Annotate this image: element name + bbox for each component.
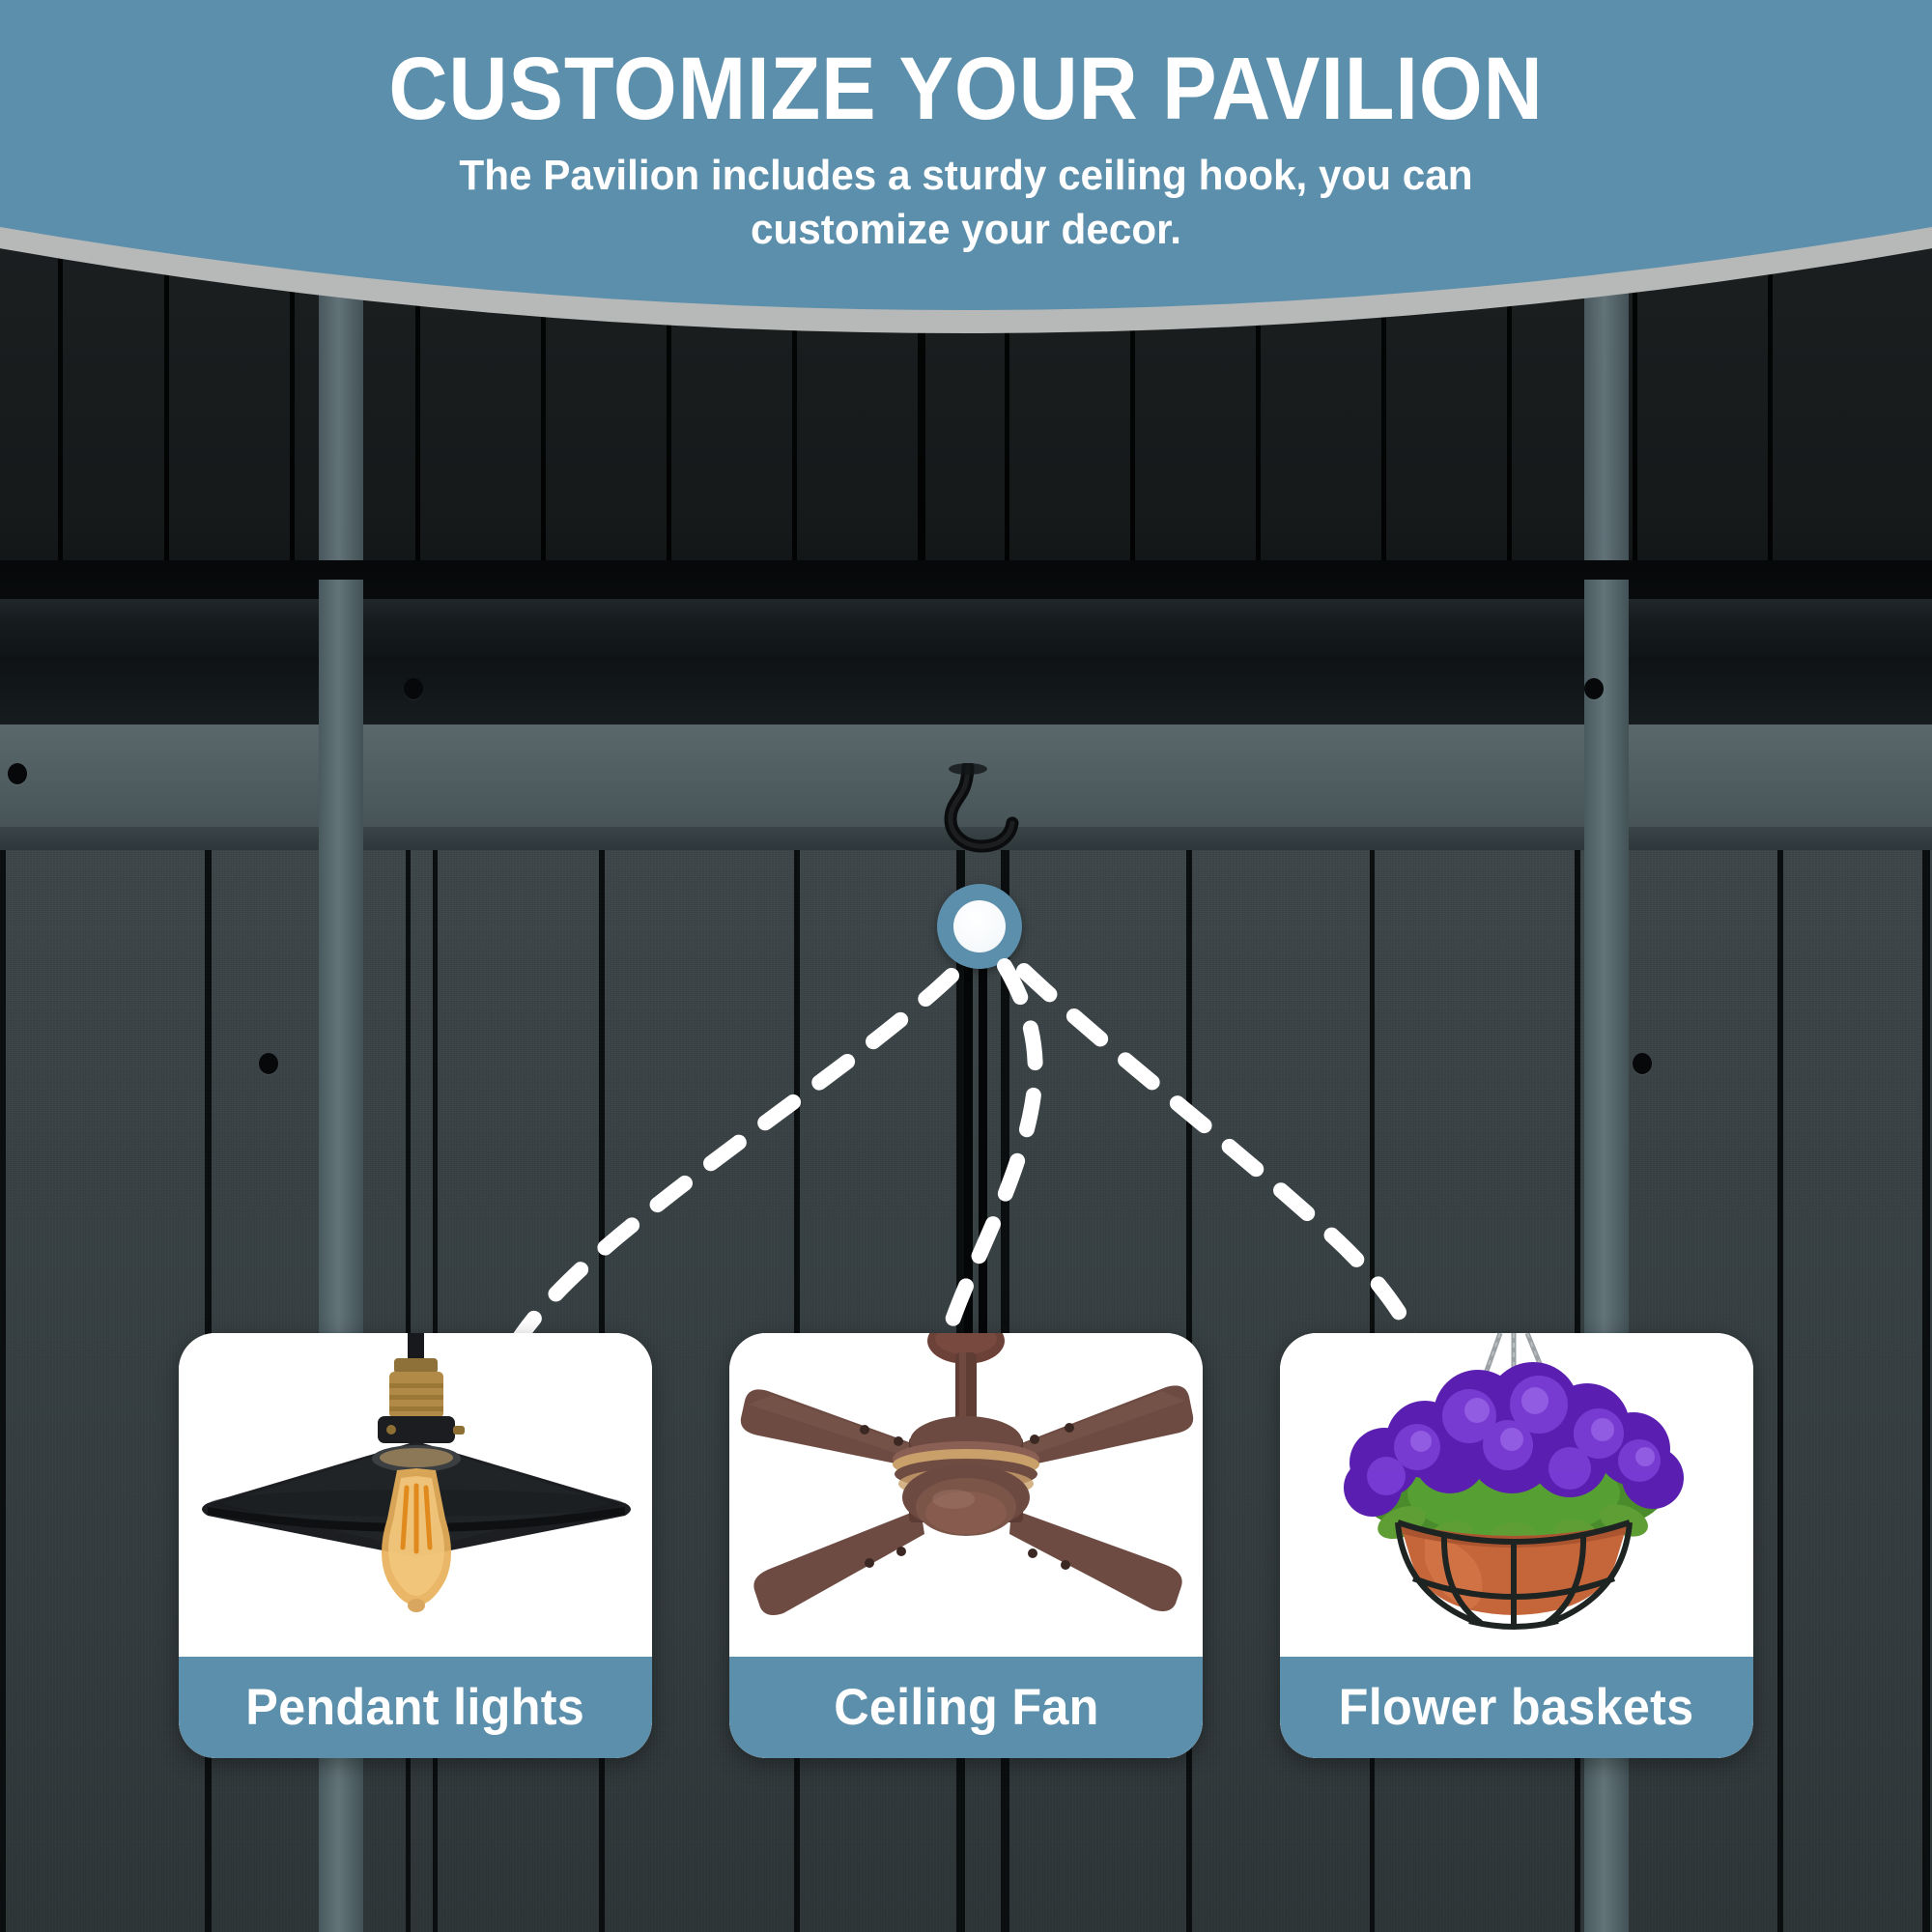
card-flower-baskets[interactable]: Flower baskets (1280, 1333, 1753, 1758)
hanging-flower-basket-icon (1280, 1333, 1753, 1676)
card-label-text: Flower baskets (1339, 1678, 1694, 1737)
connector-to-pendant (512, 976, 952, 1350)
card-label-flower-baskets: Flower baskets (1280, 1657, 1753, 1758)
pendant-light-icon (179, 1333, 652, 1676)
ceiling-fan-icon (729, 1333, 1203, 1676)
card-label-ceiling-fan: Ceiling Fan (729, 1657, 1203, 1758)
card-ceiling-fan[interactable]: Ceiling Fan (729, 1333, 1203, 1758)
card-pendant-lights[interactable]: Pendant lights (179, 1333, 652, 1758)
card-label-text: Ceiling Fan (834, 1678, 1098, 1737)
connector-to-fan (945, 966, 1036, 1345)
card-label-pendant-lights: Pendant lights (179, 1657, 652, 1758)
product-infographic: CUSTOMIZE YOUR PAVILION The Pavilion inc… (0, 0, 1932, 1932)
connector-to-basket (1024, 971, 1418, 1347)
card-label-text: Pendant lights (246, 1678, 585, 1737)
